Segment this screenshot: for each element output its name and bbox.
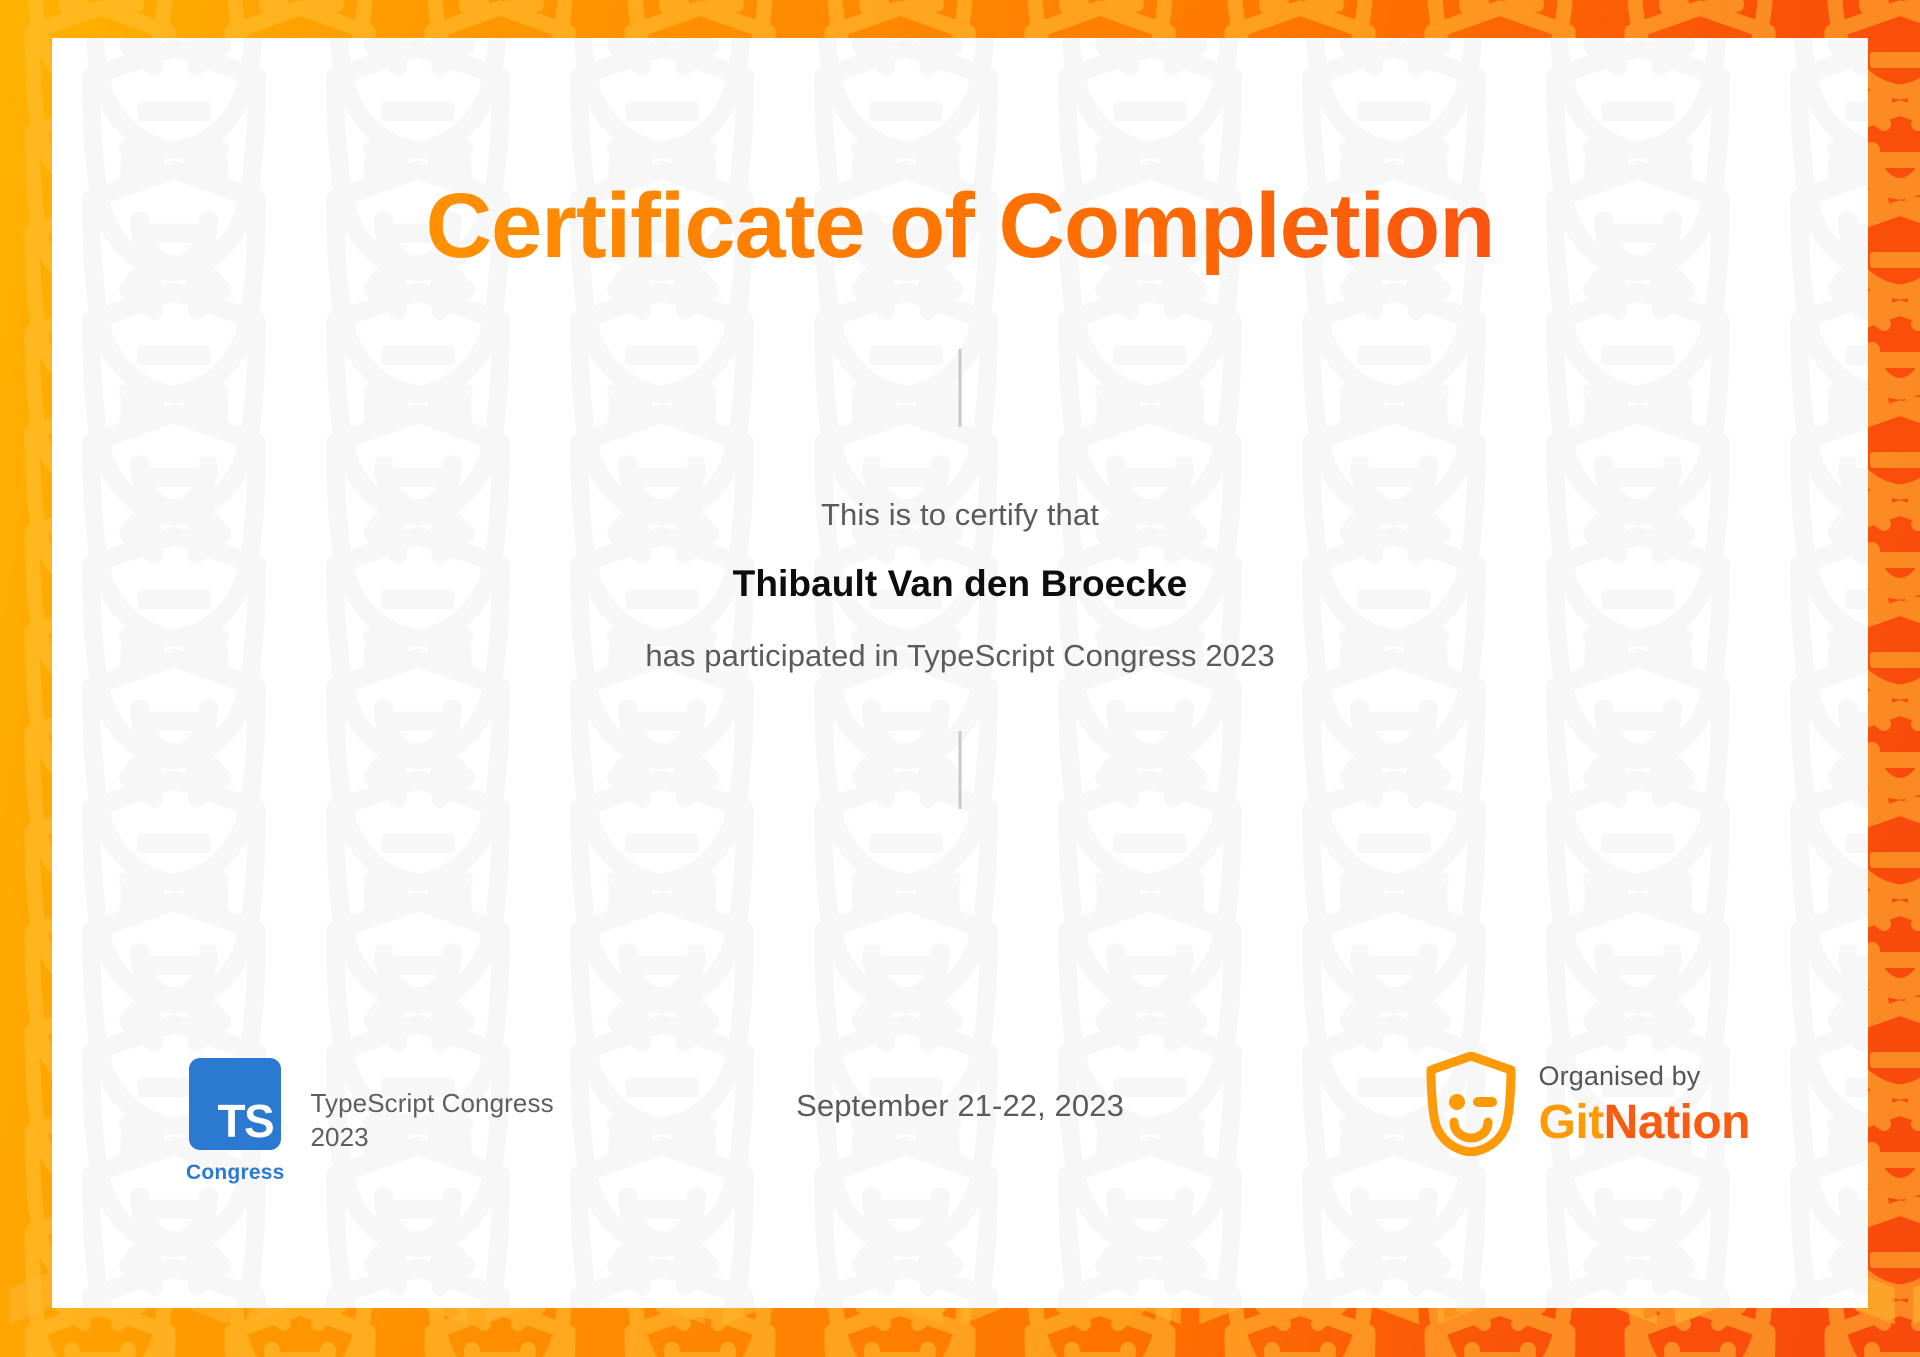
gitnation-lockup: Organised by GitNation — [1425, 1052, 1750, 1156]
statement-block: This is to certify that Thibault Van den… — [52, 493, 1868, 678]
certificate-content: Certificate of Completion This is to cer… — [52, 38, 1868, 1308]
gitnation-text-block: Organised by GitNation — [1539, 1058, 1750, 1150]
event-date: September 21-22, 2023 — [796, 1088, 1124, 1124]
certificate-footer: TS Congress TypeScript Congress 2023 Sep… — [52, 1064, 1868, 1190]
event-name-label: TypeScript Congress 2023 — [310, 1058, 572, 1155]
divider-bottom — [959, 731, 962, 809]
organised-by-label: Organised by — [1539, 1060, 1750, 1094]
gitnation-winking-mask-shield-icon — [1425, 1052, 1517, 1156]
ts-badge-sub-label: Congress — [186, 1161, 284, 1185]
recipient-name: Thibault Van den Broecke — [52, 560, 1868, 608]
ts-badge-text: TS — [217, 1098, 281, 1150]
gitnation-word-git: Git — [1539, 1096, 1604, 1149]
certificate-title: Certificate of Completion — [52, 178, 1868, 275]
participation-line: has participated in TypeScript Congress … — [52, 634, 1868, 677]
certificate-root: Certificate of Completion This is to cer… — [0, 0, 1920, 1357]
gitnation-word-nation: Nation — [1604, 1096, 1750, 1149]
certify-line: This is to certify that — [52, 493, 1868, 536]
ts-badge-wrap: TS Congress — [186, 1058, 284, 1185]
divider-top — [959, 349, 962, 427]
typescript-congress-lockup: TS Congress TypeScript Congress 2023 — [186, 1058, 572, 1185]
gitnation-wordmark: GitNation — [1539, 1096, 1750, 1150]
certificate-card: Certificate of Completion This is to cer… — [52, 38, 1868, 1308]
typescript-logo-icon: TS — [189, 1058, 281, 1150]
